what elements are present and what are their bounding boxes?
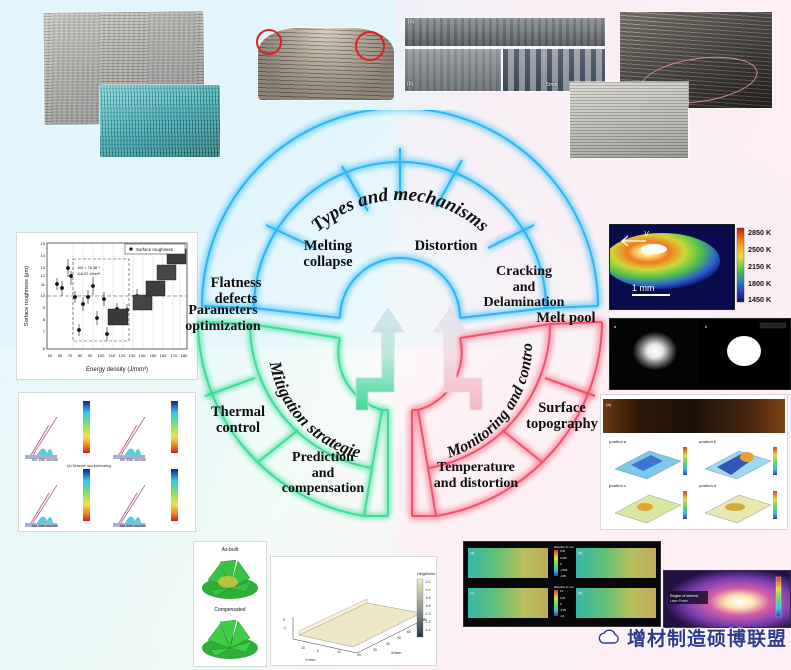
svg-text:the 15th second: the 15th second [32, 524, 58, 528]
flow-arrow-left [356, 308, 404, 410]
segment-parameters-optimization: Parameters optimization [164, 303, 282, 334]
svg-text:the 35th second: the 35th second [120, 458, 146, 462]
svg-text:-1.2: -1.2 [425, 620, 431, 624]
svg-text:20: 20 [357, 653, 361, 657]
region-of-interest-card: Region of interest Laser Power [663, 570, 791, 628]
distortion-scan-panels: (a) (b) (c) (d) distortion in mm 0.050.0… [464, 542, 660, 626]
svg-text:0: 0 [283, 618, 285, 622]
svg-text:the 15th second: the 15th second [32, 458, 58, 462]
svg-text:-0.05: -0.05 [560, 574, 566, 578]
svg-text:1800 K: 1800 K [748, 279, 772, 288]
central-wheel-diagram: Types and mechanisms Mitigation strategi… [150, 110, 650, 550]
svg-text:90: 90 [88, 353, 93, 358]
ring-label-types: Types and mechanisms [307, 184, 492, 236]
svg-text:2850 K: 2850 K [748, 228, 772, 237]
cloud-logo-icon [596, 626, 622, 650]
svg-text:-0.05: -0.05 [560, 608, 566, 612]
segment-prediction-compensation: Prediction and compensation [260, 450, 386, 497]
svg-text:(c): (c) [470, 591, 474, 595]
svg-text:-1.0: -1.0 [425, 612, 431, 616]
segment-cracking-delamination: Cracking and Delamination [460, 264, 588, 311]
svg-text:60: 60 [407, 630, 411, 634]
height-map-3d-surface: 100 1020 3040 5060 7080 Y/mm X/mm 0-1 He… [271, 557, 436, 665]
svg-text:Laser Power: Laser Power [670, 599, 689, 603]
watermark-text: 增材制造硕博联盟 [627, 624, 787, 651]
svg-text:Surface roughness (μm): Surface roughness (μm) [24, 266, 30, 326]
svg-text:position b: position b [699, 439, 717, 444]
svg-text:-0.8: -0.8 [425, 604, 431, 608]
segment-distortion: Distortion [394, 238, 498, 254]
svg-text:10: 10 [337, 650, 341, 654]
svg-text:-0.025: -0.025 [560, 568, 568, 572]
distortion-scans-card: (a) (b) (c) (d) distortion in mm 0.050.0… [463, 541, 661, 627]
svg-text:(d): (d) [578, 591, 582, 595]
svg-text:Region of interest: Region of interest [670, 594, 698, 598]
svg-text:70: 70 [68, 353, 73, 358]
svg-text:140: 140 [139, 353, 146, 358]
svg-text:10: 10 [301, 646, 305, 650]
segment-surface-topography: Surface topography [500, 400, 624, 432]
svg-text:-0.6: -0.6 [425, 596, 431, 600]
panel-a-label: (a) [408, 19, 415, 25]
svg-text:-1: -1 [283, 626, 286, 630]
region-of-interest-thermal: Region of interest Laser Power [664, 571, 790, 627]
svg-text:1450 K: 1450 K [748, 295, 772, 304]
svg-text:Compensated: Compensated [214, 607, 245, 613]
svg-text:-1.4: -1.4 [425, 628, 431, 632]
segment-melting-collapse: Melting collapse [280, 238, 376, 270]
svg-text:2500 K: 2500 K [748, 245, 772, 254]
svg-text:the 35th second: the 35th second [120, 524, 146, 528]
humping-annotation-circle-left [256, 29, 282, 55]
flow-arrow-right [434, 308, 482, 410]
svg-text:Y/mm: Y/mm [305, 657, 316, 662]
svg-text:50: 50 [397, 636, 401, 640]
melt-pool-colorbar: 2850 K 2500 K 2150 K 1800 K 1450 K [736, 226, 788, 306]
top-center-panel-b [405, 49, 501, 91]
svg-text:116.02 J/mm³: 116.02 J/mm³ [77, 272, 101, 276]
svg-text:110: 110 [109, 353, 116, 358]
svg-text:40: 40 [386, 642, 390, 646]
svg-text:-0.2: -0.2 [425, 580, 431, 584]
svg-text:(a) Scheme non-preheating: (a) Scheme non-preheating [67, 464, 111, 468]
svg-text:15: 15 [41, 241, 46, 246]
svg-text:-0.4: -0.4 [425, 588, 431, 592]
height-map-card: 100 1020 3040 5060 7080 Y/mm X/mm 0-1 He… [270, 556, 437, 666]
svg-text:Height/mm: Height/mm [417, 572, 435, 576]
svg-text:0.025: 0.025 [560, 556, 567, 560]
svg-text:(a): (a) [470, 551, 474, 555]
svg-text:100: 100 [98, 353, 105, 358]
segment-melt-pool: Melt pool [508, 310, 624, 326]
svg-text:0.05: 0.05 [560, 596, 566, 600]
svg-text:12: 12 [41, 273, 46, 278]
svg-text:-0.1: -0.1 [560, 614, 565, 618]
svg-text:0: 0 [317, 649, 319, 653]
svg-text:80: 80 [78, 353, 83, 358]
top-center-panel-a [405, 18, 605, 46]
infographic-figure: (a) (b) 5mm 100 × 76.38⁻¹ 116 [0, 0, 791, 670]
segment-temperature-distortion: Temperature and distortion [406, 460, 546, 491]
humping-annotation-circle-right [355, 31, 385, 61]
svg-text:13: 13 [41, 265, 46, 270]
segment-thermal-control: Thermal control [186, 404, 290, 436]
svg-text:120: 120 [119, 353, 126, 358]
svg-text:130: 130 [129, 353, 136, 358]
svg-text:0.1: 0.1 [560, 589, 564, 593]
svg-text:2150 K: 2150 K [748, 262, 772, 271]
svg-text:Energy density (J/mm³): Energy density (J/mm³) [86, 367, 148, 373]
svg-text:position d: position d [699, 483, 716, 488]
watermark: 增材制造硕博联盟 [596, 624, 787, 651]
blade-compensation-plot: As-built Compensated [194, 542, 266, 666]
panel-b-label: (b) [407, 81, 414, 87]
svg-text:(b): (b) [578, 551, 582, 555]
svg-text:100 × 76.38⁻¹: 100 × 76.38⁻¹ [77, 266, 101, 270]
svg-text:10: 10 [41, 293, 46, 298]
svg-text:50: 50 [48, 353, 53, 358]
svg-text:X/mm: X/mm [391, 650, 402, 655]
svg-text:30: 30 [373, 648, 377, 652]
svg-text:distortion in mm: distortion in mm [554, 585, 574, 589]
svg-text:14: 14 [41, 253, 46, 258]
panel-c-scale-bar-label: 5mm [546, 82, 558, 88]
blade-compensation-card: As-built Compensated [193, 541, 267, 667]
svg-text:60: 60 [58, 353, 63, 358]
